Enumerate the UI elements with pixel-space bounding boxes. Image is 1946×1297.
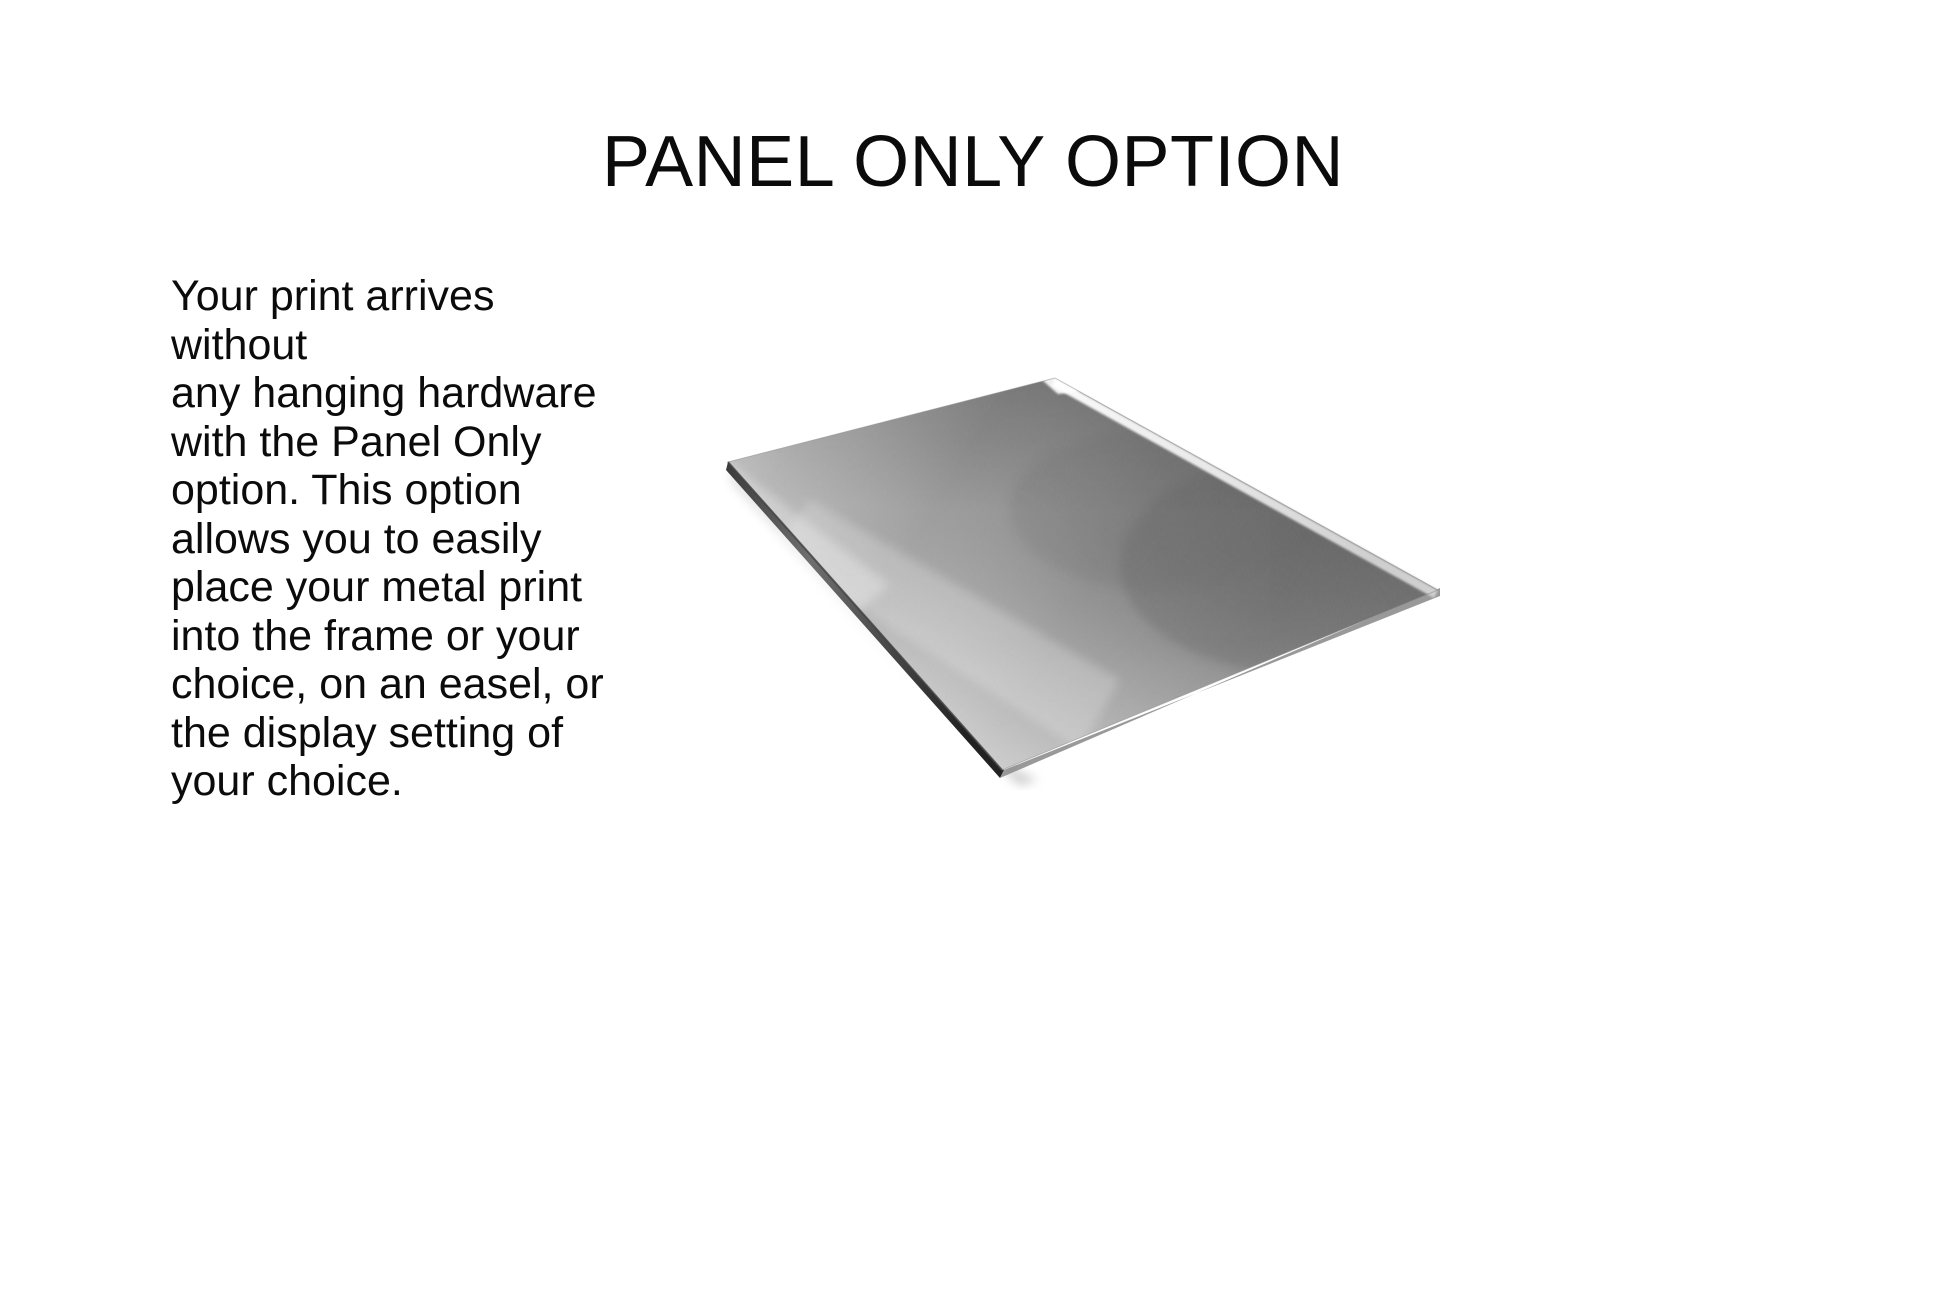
metal-panel-figure bbox=[690, 350, 1490, 810]
body-paragraph: Your print arrives without any hanging h… bbox=[171, 272, 641, 806]
page-title: PANEL ONLY OPTION bbox=[0, 126, 1946, 198]
panel-face bbox=[690, 350, 1490, 810]
slide-canvas: PANEL ONLY OPTION Your print arrives wit… bbox=[0, 0, 1946, 1297]
body-paragraph-text: Your print arrives without any hanging h… bbox=[171, 272, 604, 805]
